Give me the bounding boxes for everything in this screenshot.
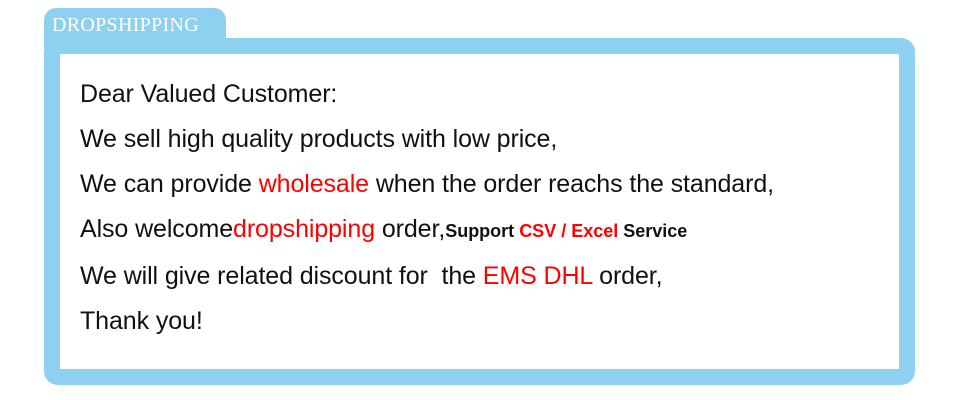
message-line-wholesale: We can provide wholesale when the order …: [80, 162, 900, 207]
customer-message: Dear Valued Customer:We sell high qualit…: [80, 72, 900, 344]
message-segment: EMS DHL: [483, 262, 593, 290]
message-segment: We will give related discount for the: [80, 262, 483, 290]
dropshipping-tab: DROPSHIPPING: [44, 8, 226, 48]
message-segment: We can provide: [80, 170, 259, 198]
message-segment: when the order reachs the standard,: [369, 170, 774, 198]
message-segment: Also welcome: [80, 215, 233, 243]
message-segment: We sell high quality products with low p…: [80, 125, 557, 153]
message-segment: Support: [445, 221, 519, 241]
message-line-shipping-discount: We will give related discount for the EM…: [80, 254, 900, 299]
message-line-greeting: Dear Valued Customer:: [80, 72, 900, 117]
message-segment: Thank you!: [80, 307, 203, 335]
message-line-dropshipping-support: Also welcomedropshipping order,Support C…: [80, 207, 900, 254]
message-segment: Dear Valued Customer:: [80, 80, 337, 108]
message-segment: order,: [375, 215, 445, 243]
message-segment: CSV / Excel: [519, 221, 618, 241]
message-segment: dropshipping: [233, 215, 375, 243]
message-segment: Service: [618, 221, 687, 241]
message-segment: wholesale: [259, 170, 369, 198]
dropshipping-tab-label: DROPSHIPPING: [52, 13, 199, 37]
message-segment: order,: [592, 262, 662, 290]
dropshipping-banner: DROPSHIPPING Dear Valued Customer:We sel…: [0, 0, 960, 400]
message-line-quality-price: We sell high quality products with low p…: [80, 117, 900, 162]
message-line-thanks: Thank you!: [80, 299, 900, 344]
